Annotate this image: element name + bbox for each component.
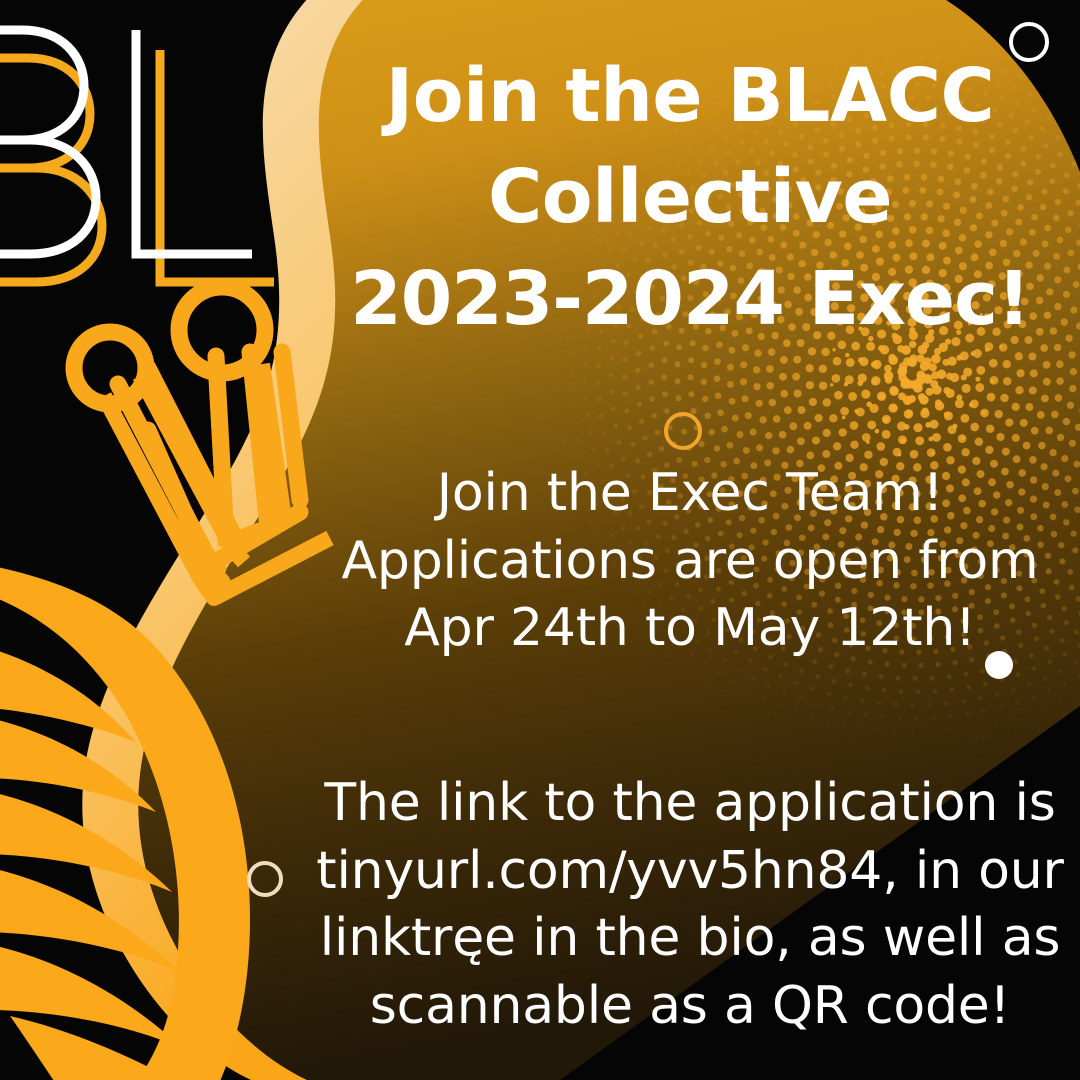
circle-outline-icon-top-right: [1009, 22, 1049, 62]
para2-line-3: linktręe in the bio, as well as: [300, 905, 1080, 973]
circle-outline-icon-left: [247, 861, 283, 897]
poster-canvas: Join the BLACC Collective 2023-2024 Exec…: [0, 0, 1080, 1080]
para1-line-2: Applications are open from: [300, 528, 1080, 596]
headline-line-3: 2023-2024 Exec!: [300, 249, 1080, 350]
headline-line-2: Collective: [300, 147, 1080, 248]
para1-line-3: Apr 24th to May 12th!: [300, 595, 1080, 663]
filled-dot-icon: [985, 651, 1013, 679]
circle-outline-icon-middle: [664, 412, 702, 450]
application-link-paragraph: The link to the application is tinyurl.c…: [300, 770, 1080, 1040]
para2-line-4: scannable as a QR code!: [300, 973, 1080, 1041]
application-url-line[interactable]: tinyurl.com/yvv5hn84, in our: [300, 838, 1080, 906]
para2-line-1: The link to the application is: [300, 770, 1080, 838]
page-title: Join the BLACC Collective 2023-2024 Exec…: [300, 46, 1080, 350]
application-dates-paragraph: Join the Exec Team! Applications are ope…: [300, 460, 1080, 663]
para1-line-1: Join the Exec Team!: [300, 460, 1080, 528]
headline-line-1: Join the BLACC: [300, 46, 1080, 147]
poster-text-content: Join the BLACC Collective 2023-2024 Exec…: [300, 0, 1080, 1080]
